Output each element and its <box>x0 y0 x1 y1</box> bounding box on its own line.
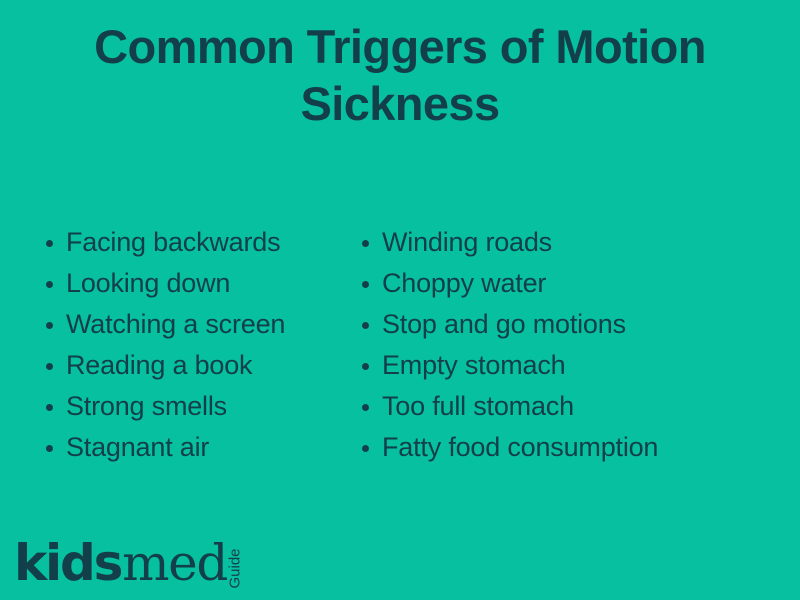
list-item: Too full stomach <box>362 386 800 427</box>
bullet-icon <box>46 363 53 370</box>
bullet-icon <box>362 404 369 411</box>
list-item-label: Winding roads <box>382 227 552 258</box>
logo-text-med: med <box>122 538 227 588</box>
page-title-line-1: Common Triggers of Motion <box>40 18 760 75</box>
list-item: Choppy water <box>362 263 800 304</box>
page-title-line-2: Sickness <box>40 75 760 132</box>
list-item-label: Fatty food consumption <box>382 432 658 463</box>
list-item-label: Empty stomach <box>382 350 565 381</box>
infographic-slide: Common Triggers of Motion Sickness Facin… <box>0 0 800 600</box>
list-item-label: Stop and go motions <box>382 309 626 340</box>
list-item: Reading a book <box>46 345 357 386</box>
list-item: Strong smells <box>46 386 357 427</box>
bullet-icon <box>46 445 53 452</box>
list-item: Fatty food consumption <box>362 427 800 468</box>
list-item-label: Watching a screen <box>66 309 285 340</box>
list-item-label: Too full stomach <box>382 391 574 422</box>
list-item-label: Facing backwards <box>66 227 280 258</box>
list-item-label: Choppy water <box>382 268 546 299</box>
bullet-icon <box>362 445 369 452</box>
page-title: Common Triggers of Motion Sickness <box>0 18 800 132</box>
bullet-icon <box>362 363 369 370</box>
list-item: Watching a screen <box>46 304 357 345</box>
bullet-icon <box>362 322 369 329</box>
bullet-icon <box>46 404 53 411</box>
bullet-icon <box>46 240 53 247</box>
list-item: Stop and go motions <box>362 304 800 345</box>
list-item-label: Strong smells <box>66 391 227 422</box>
logo-text-guide: Guide <box>227 548 242 588</box>
list-item: Empty stomach <box>362 345 800 386</box>
bullet-icon <box>362 240 369 247</box>
list-item-label: Looking down <box>66 268 230 299</box>
logo-guide-wrapper: Guide <box>228 542 246 588</box>
logo-text-kids: kids <box>14 538 121 588</box>
kidsmedguide-logo: kids med Guide <box>14 536 246 588</box>
triggers-list-container: Facing backwards Looking down Watching a… <box>0 222 800 477</box>
bullet-icon <box>362 281 369 288</box>
list-item-label: Stagnant air <box>66 432 209 463</box>
triggers-left-column: Facing backwards Looking down Watching a… <box>0 222 357 468</box>
list-item: Looking down <box>46 263 357 304</box>
triggers-right-column: Winding roads Choppy water Stop and go m… <box>357 222 800 468</box>
list-item: Stagnant air <box>46 427 357 468</box>
list-item-label: Reading a book <box>66 350 252 381</box>
list-item: Facing backwards <box>46 222 357 263</box>
bullet-icon <box>46 322 53 329</box>
bullet-icon <box>46 281 53 288</box>
list-item: Winding roads <box>362 222 800 263</box>
